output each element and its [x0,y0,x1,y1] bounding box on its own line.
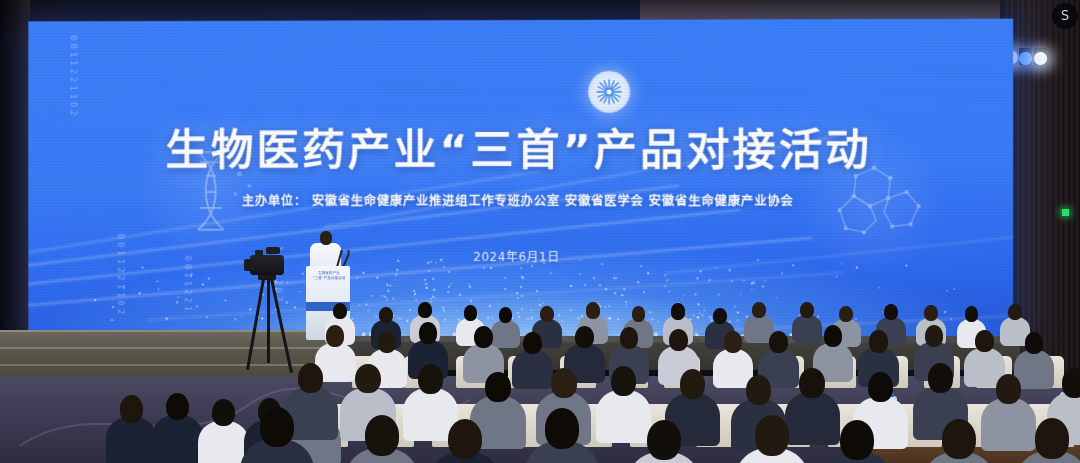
audience-member-body [152,415,202,463]
audience-member-head [869,330,888,352]
audience-member-head [620,327,639,349]
event-date: 2024年6月1日 [28,247,1013,265]
audience-member-head [884,304,898,320]
audience-member-head [942,419,976,459]
stage-lamp [1034,52,1047,65]
audience-member-head [298,363,323,393]
audience-member-head [647,420,681,460]
audience-member-head [680,369,705,399]
audience-member-head [669,329,688,351]
audience-member-head [166,393,189,420]
audience-member-head [418,302,432,318]
audience-member-head [868,372,893,402]
audience-member-head [575,326,594,348]
exit-light-icon [1062,209,1069,216]
audience-member-body [512,350,553,389]
audience-member-head [448,419,482,459]
speaker-head [320,231,332,245]
podium-sign: 生物医药产业 “三首”产品对接活动 [312,271,346,288]
binary-decoration: 0011221102 [68,35,78,119]
audience-member-head [523,332,542,354]
audience-member-body [792,315,822,344]
audience-member-head [474,326,493,348]
audience-member-head [120,395,143,422]
audience-member-head [799,368,824,398]
audience-member-head [800,302,814,318]
audience-member-head [724,331,743,353]
led-backdrop-screen: 0011221102 0011221102 0011221 1021102 [28,19,1013,344]
audience-member-head [418,364,443,394]
audience-member-head [379,307,393,323]
audience-member-head [840,420,874,460]
audience-member-head [755,415,789,455]
audience-member-body [596,390,651,443]
audience-member-head [464,305,478,321]
audience-member-head [485,372,510,402]
audience-member-head [1008,304,1022,320]
audience-member-head [365,415,399,455]
binary-decoration: 0011221102 [115,234,125,318]
camera-viewfinder [255,250,263,256]
audience-member-head [540,306,554,322]
audience-member-head [769,331,788,353]
audience-member-body [491,320,521,349]
podium-sign-line-2: “三首”产品对接活动 [312,276,346,281]
camera-handle [266,247,280,254]
event-organizers: 主办单位： 安徽省生命健康产业推进组工作专班办公室 安徽省医学会 安徽省生命健康… [28,190,1013,209]
camera-lens [244,259,254,271]
audience-member-head [333,303,347,319]
audience-member-head [499,307,513,323]
audience-member-body [785,392,840,445]
audience-member-head [1025,332,1044,354]
audience-member-head [746,375,771,405]
audience-member-head [419,322,438,344]
audience-member-head [1062,368,1080,398]
audience-member-head [925,325,944,347]
audience-member-head [378,331,397,353]
event-title: 生物医药产业“三首”产品对接活动 [28,115,1013,178]
audience-member-head [212,399,235,426]
audience-member-body [981,398,1036,451]
microphone-head [340,250,343,253]
watermark: S [1052,3,1078,29]
stage-lamp [1019,52,1032,65]
audience-member-head [975,330,994,352]
audience-member-head [824,325,843,347]
audience-member-head [632,306,646,322]
audience-member-head [839,306,853,322]
audience-member-head [611,366,636,396]
audience-member-head [551,368,576,398]
audience-member-head [326,325,345,347]
audience-member-head [586,302,600,318]
audience-member-head [355,364,380,394]
audience-member-body [198,421,248,463]
audience-member-head [260,407,294,447]
event-logo-icon [588,71,630,113]
audience-member-head [752,302,766,318]
microphone-head [347,250,350,253]
audience-member-head [928,363,953,393]
audience-member-head [671,303,685,319]
audience-member-body [106,417,156,463]
audience-member-head [545,408,579,448]
audience-member-head [965,306,979,322]
broadcast-camera [250,255,284,275]
audience-member-head [924,305,938,321]
audience-member-head [996,374,1021,404]
audience-member-head [1035,418,1069,458]
tripod-leg [267,279,270,363]
conference-photo: 0011221102 0011221102 0011221 1021102 [0,0,1080,463]
audience-member-head [713,308,727,324]
